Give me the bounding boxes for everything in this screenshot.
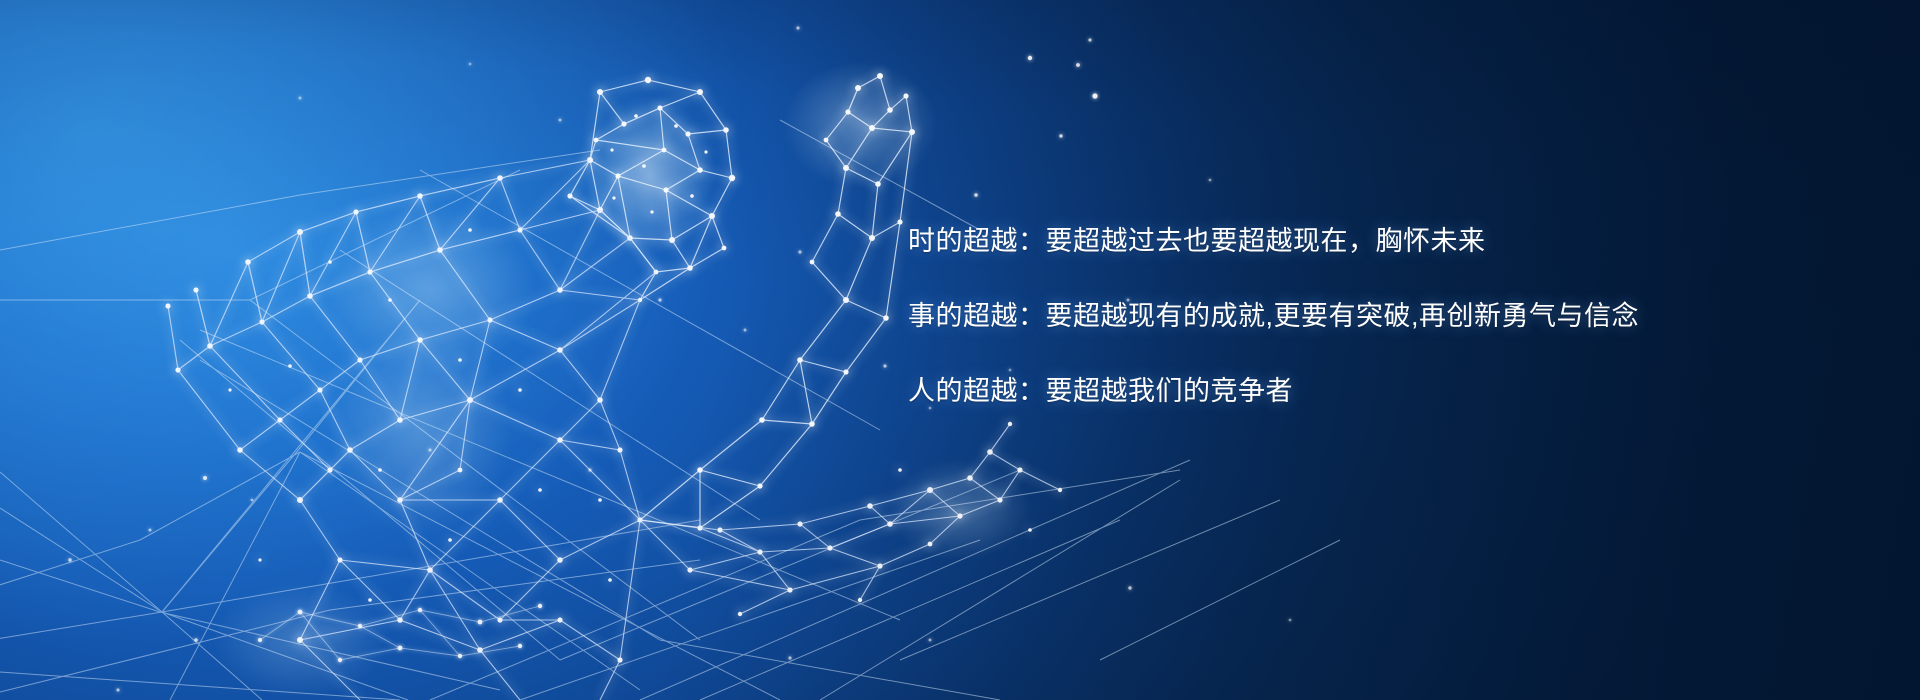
banner-stage: 时的超越：要超越过去也要超越现在，胸怀未来 事的超越：要超越现有的成就,更要有突… xyxy=(0,0,1920,700)
tagline-time: 时的超越：要超越过去也要超越现在，胸怀未来 xyxy=(908,228,1808,255)
tagline-matter: 事的超越：要超越现有的成就,更要有突破,再创新勇气与信念 xyxy=(908,303,1808,330)
tagline-people: 人的超越：要超越我们的竞争者 xyxy=(908,378,1808,405)
tagline-group: 时的超越：要超越过去也要超越现在，胸怀未来 事的超越：要超越现有的成就,更要有突… xyxy=(908,228,1808,405)
